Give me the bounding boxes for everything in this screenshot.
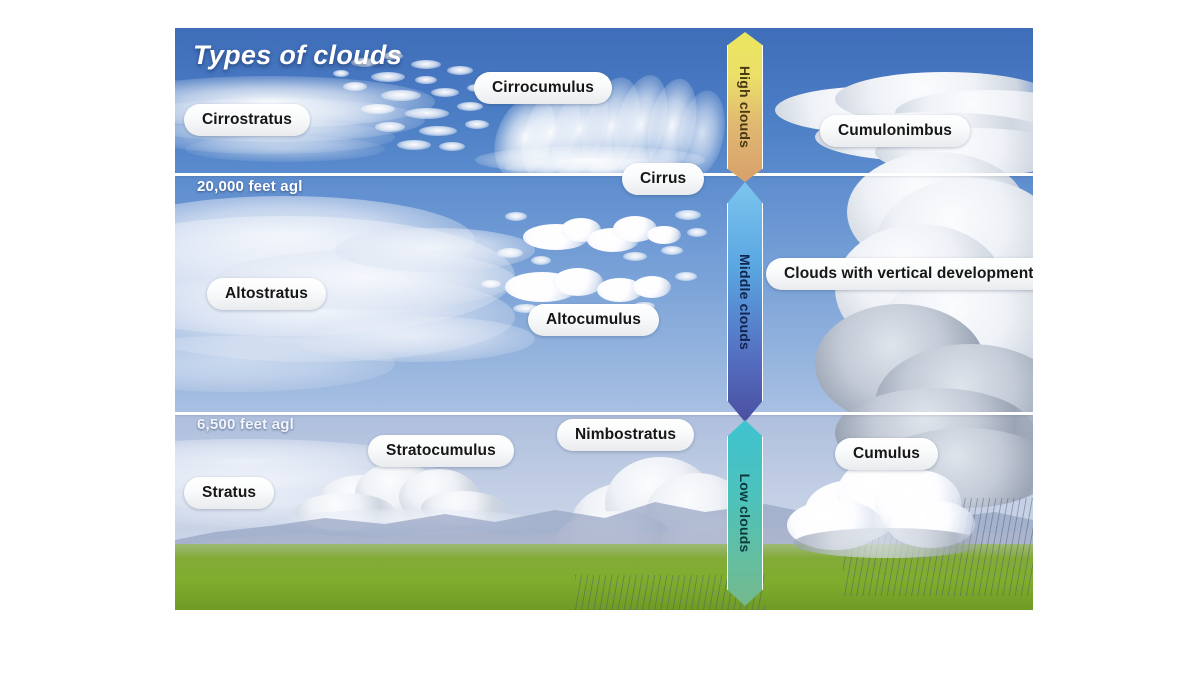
scale-segment-middle-clouds: Middle clouds bbox=[727, 182, 763, 422]
label-cirrostratus: Cirrostratus bbox=[184, 104, 310, 136]
scale-label-low-clouds: Low clouds bbox=[737, 474, 753, 553]
label-nimbostratus: Nimbostratus bbox=[557, 419, 694, 451]
scale-segment-low-clouds: Low clouds bbox=[727, 420, 763, 606]
scale-segment-high-clouds: High clouds bbox=[727, 32, 763, 182]
diagram-title: Types of clouds bbox=[193, 40, 402, 71]
scale-label-middle-clouds: Middle clouds bbox=[737, 254, 753, 350]
label-cumulonimbus: Cumulonimbus bbox=[820, 115, 970, 147]
altitude-label-6500ft: 6,500 feet agl bbox=[197, 416, 294, 433]
label-cirrus: Cirrus bbox=[622, 163, 704, 195]
label-stratocumulus: Stratocumulus bbox=[368, 435, 514, 467]
cloud-types-diagram: 20,000 feet agl 6,500 feet agl Types of … bbox=[175, 28, 1033, 610]
scale-label-high-clouds: High clouds bbox=[737, 66, 753, 148]
divider-20000ft bbox=[175, 173, 1033, 176]
label-cumulus: Cumulus bbox=[835, 438, 938, 470]
label-clouds-with-vertical-development: Clouds with vertical development bbox=[766, 258, 1033, 290]
label-altostratus: Altostratus bbox=[207, 278, 326, 310]
altitude-label-20000ft: 20,000 feet agl bbox=[197, 178, 303, 195]
label-cirrocumulus: Cirrocumulus bbox=[474, 72, 612, 104]
label-stratus: Stratus bbox=[184, 477, 274, 509]
screenshot-canvas: 20,000 feet agl 6,500 feet agl Types of … bbox=[0, 0, 1200, 675]
altitude-scale-bar: High clouds Middle clouds Low clouds bbox=[727, 28, 761, 610]
divider-6500ft bbox=[175, 412, 1033, 415]
label-altocumulus: Altocumulus bbox=[528, 304, 659, 336]
